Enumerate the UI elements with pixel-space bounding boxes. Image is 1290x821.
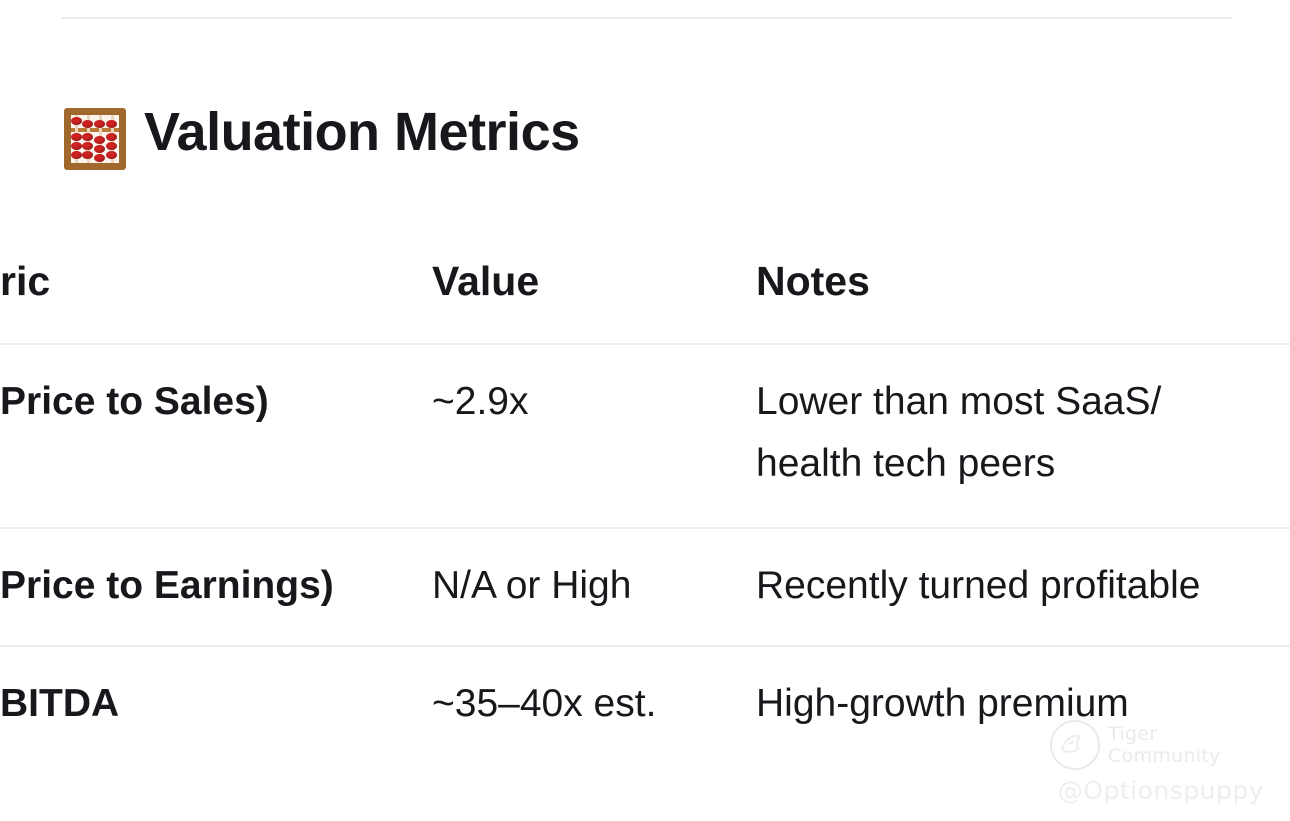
abacus-icon [62,100,126,164]
cell-value: N/A or High [432,555,756,617]
column-header-value: Value [432,246,756,305]
cell-value: ~2.9x [432,371,756,433]
column-header-metric: ric [0,246,432,305]
cell-metric-text: BITDA [0,673,432,735]
page-title: Valuation Metrics [144,101,580,163]
table-header-row: ric Value Notes [0,246,1290,343]
cell-value-text: N/A or High [432,555,756,617]
cell-value-text: ~35–40x est. [432,673,756,735]
column-header-metric-label: ric [0,246,432,305]
cell-metric: BITDA [0,673,432,735]
cell-notes: Lower than most SaaS/ health tech peers [756,371,1290,495]
cell-metric: Price to Sales) [0,371,432,433]
cell-metric-text: Price to Earnings) [0,555,432,617]
cell-value: ~35–40x est. [432,673,756,735]
cell-notes: Recently turned profitable [756,555,1290,617]
column-header-value-label: Value [432,246,756,305]
column-header-notes: Notes [756,246,1290,305]
valuation-metrics-table: ric Value Notes Price to Sales) ~2.9x Lo… [0,246,1290,763]
cell-notes: High-growth premium [756,673,1290,735]
section-heading: Valuation Metrics [62,100,580,164]
cell-metric-text: Price to Sales) [0,371,432,433]
table-row: Price to Earnings) N/A or High Recently … [0,529,1290,645]
table-row: BITDA ~35–40x est. High-growth premium [0,647,1290,763]
cell-value-text: ~2.9x [432,371,756,433]
top-divider [62,17,1232,19]
page-root: Valuation Metrics ric Value Notes Price … [0,0,1290,821]
table-row: Price to Sales) ~2.9x Lower than most Sa… [0,345,1290,527]
cell-notes-text: Lower than most SaaS/ health tech peers [756,371,1256,495]
watermark-handle: @Optionspuppy [1040,776,1270,805]
cell-metric: Price to Earnings) [0,555,432,617]
cell-notes-text: High-growth premium [756,673,1290,735]
cell-notes-text: Recently turned profitable [756,555,1290,617]
column-header-notes-label: Notes [756,246,1290,305]
